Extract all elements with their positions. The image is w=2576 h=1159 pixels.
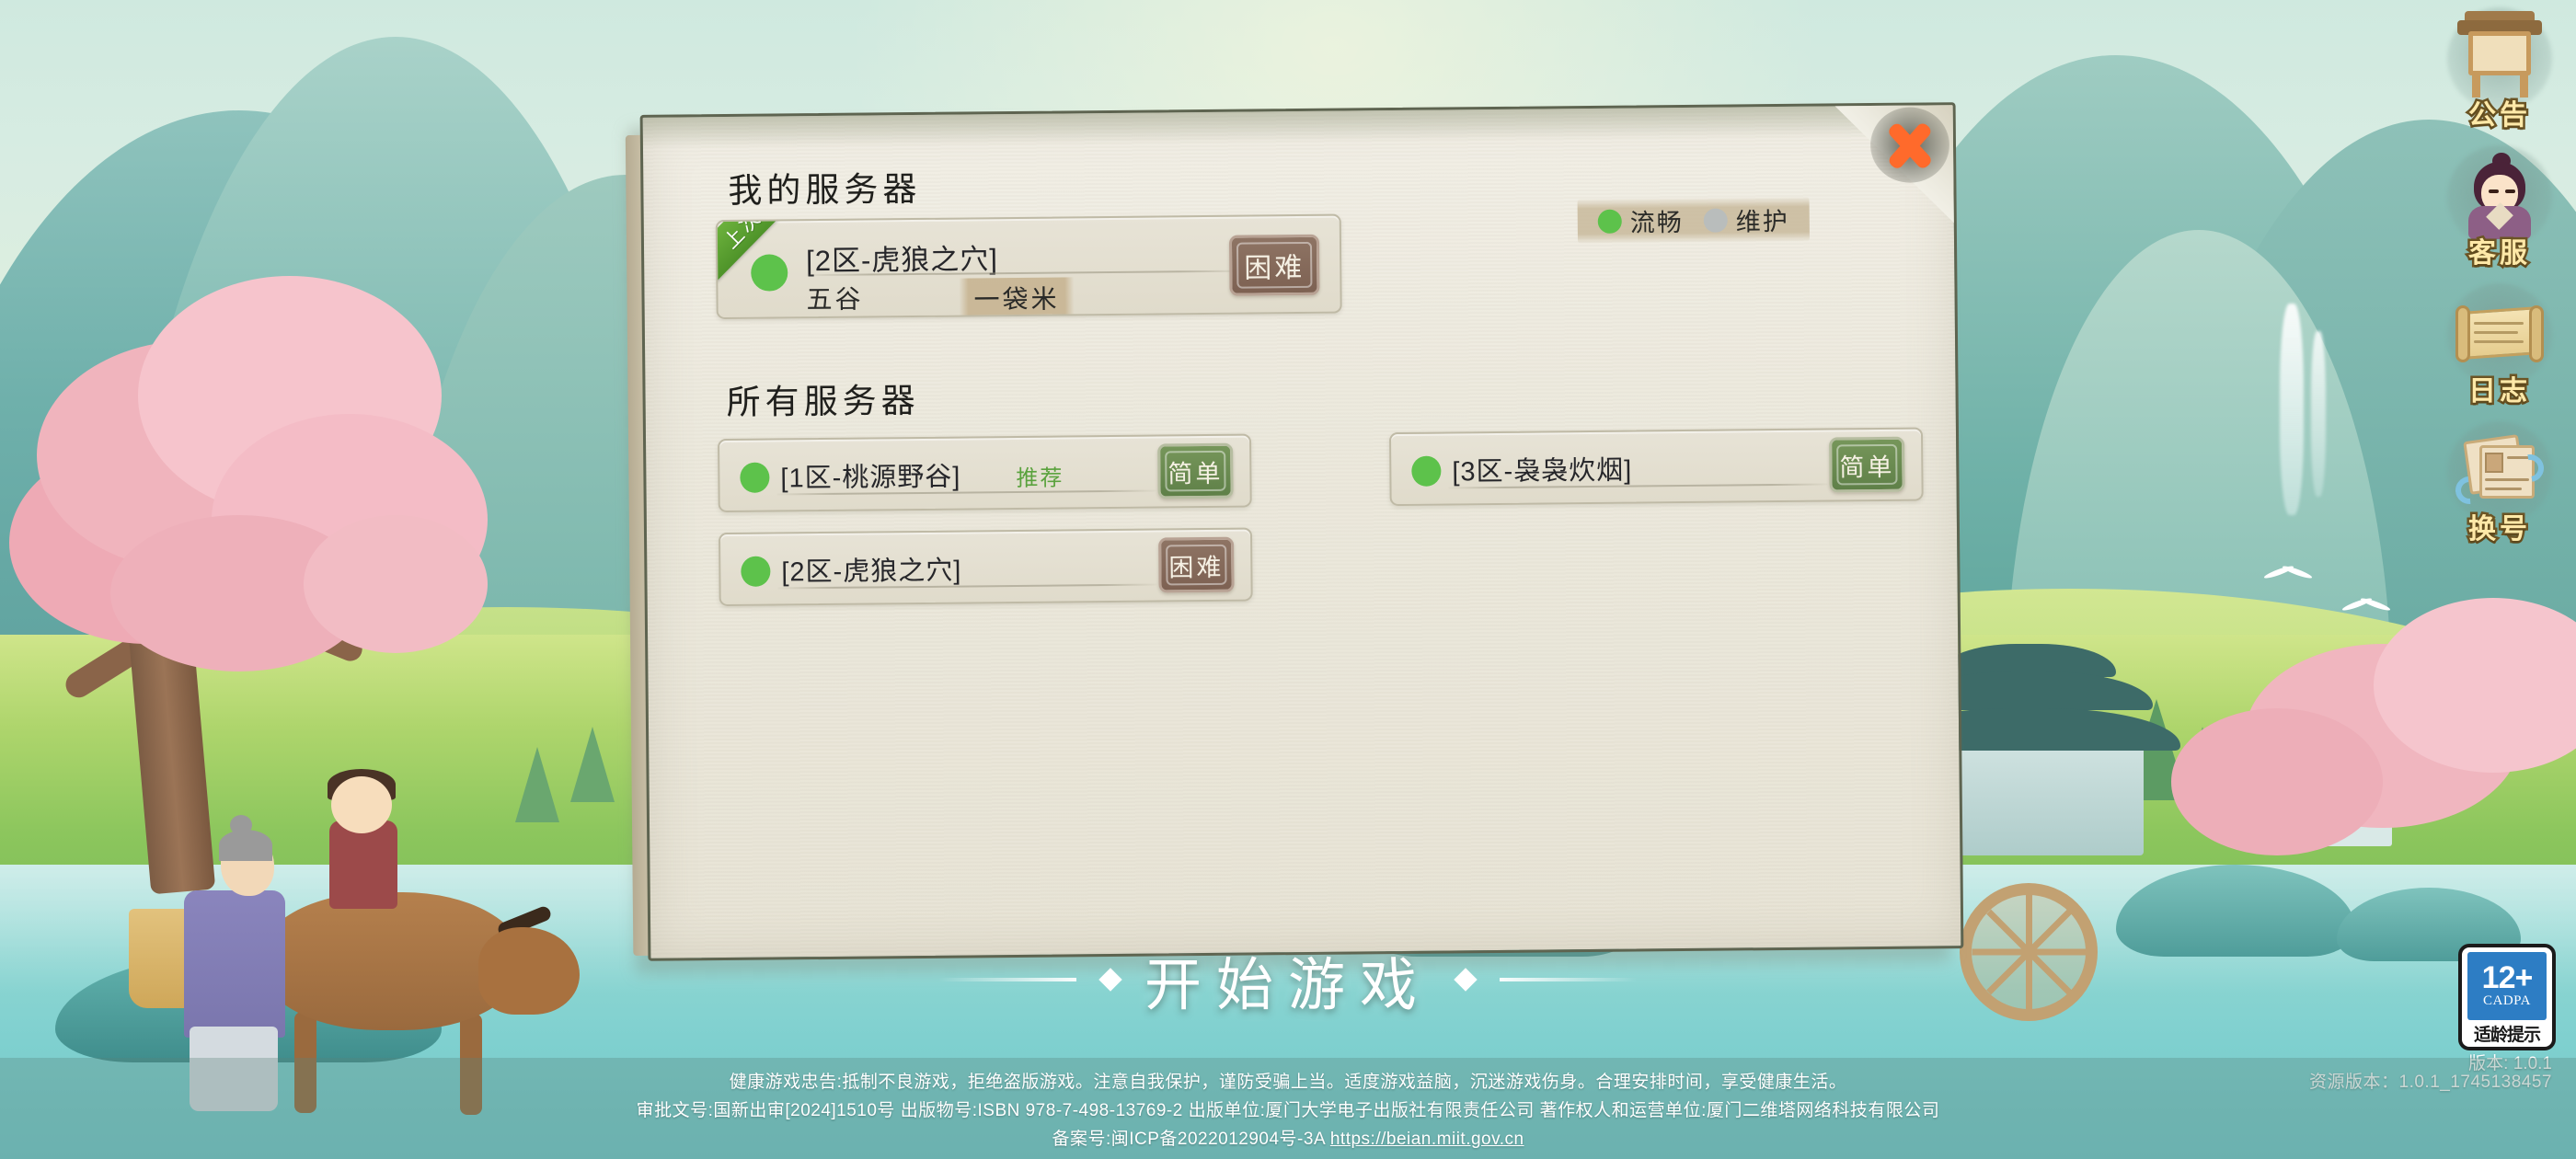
difficulty-button-easy[interactable]: 简单 — [1157, 443, 1234, 499]
panel-body: 流畅 维护 我的服务器 上次 [2区-虎狼之穴] 五谷 一袋米 困难 所有服务器… — [640, 102, 1964, 961]
server-card[interactable]: [1区-桃源野谷] 推荐 简单 — [718, 434, 1252, 513]
start-game-button[interactable]: 开始游戏 — [938, 938, 1638, 1021]
legend-maintenance-label: 维护 — [1736, 201, 1789, 238]
server-card[interactable]: [2区-虎狼之穴] 困难 — [719, 528, 1253, 607]
server-status-dot-icon — [751, 254, 788, 291]
recommend-badge: 推荐 — [1016, 459, 1064, 491]
age-rating-number: 12+ — [2482, 963, 2533, 993]
beian-link[interactable]: https://beian.miit.gov.cn — [1330, 1130, 1524, 1149]
age-rating-caption: 适龄提示 — [2474, 1021, 2540, 1046]
decor-diamond-right-icon — [1454, 968, 1477, 991]
cherry-blossom — [304, 515, 488, 653]
difficulty-button-easy[interactable]: 简单 — [1829, 437, 1905, 493]
server-name: [2区-虎狼之穴] — [781, 549, 961, 590]
footer-icp-line: 备案号:闽ICP备2022012904号-3A https://beian.mi… — [1052, 1125, 1524, 1150]
old-man-hair — [219, 830, 272, 861]
sidebar-item-log[interactable]: 日志 — [2440, 283, 2559, 421]
child-head — [331, 776, 392, 833]
role-title-badge: 一袋米 — [959, 277, 1074, 318]
close-x-icon — [1880, 115, 1940, 175]
status-legend: 流畅 维护 — [1578, 197, 1810, 244]
status-dot-maintenance-icon — [1704, 208, 1728, 232]
close-button[interactable] — [1857, 93, 1961, 197]
start-game-label: 开始游戏 — [1144, 938, 1432, 1021]
age-rating-badge: 12+ CADPA 适龄提示 — [2458, 944, 2556, 1050]
sidebar-label-customer-service: 客服 — [2468, 230, 2531, 270]
my-server-card[interactable]: 上次 [2区-虎狼之穴] 五谷 一袋米 困难 — [716, 214, 1342, 320]
server-status-dot-icon — [741, 557, 770, 587]
server-card[interactable]: [3区-袅袅炊烟] 简单 — [1389, 428, 1924, 507]
server-name: [1区-桃源野谷] — [780, 455, 960, 496]
server-select-panel: 流畅 维护 我的服务器 上次 [2区-虎狼之穴] 五谷 一袋米 困难 所有服务器… — [640, 102, 1964, 961]
role-name: 五谷 — [806, 280, 863, 317]
sidebar-label-switch-account: 换号 — [2468, 506, 2531, 546]
decor-line-right — [1500, 978, 1638, 981]
server-status-dot-icon — [740, 463, 769, 493]
ox-head — [478, 927, 580, 1015]
switch-account-icon — [2452, 425, 2547, 513]
child-body — [329, 820, 397, 909]
section-title-my-servers: 我的服务器 — [717, 159, 940, 216]
difficulty-button-hard[interactable]: 困难 — [1158, 537, 1235, 593]
footer-license-info: 审批文号:国新出审[2024]1510号 出版物号:ISBN 978-7-498… — [637, 1096, 1940, 1121]
age-rating-box: 12+ CADPA — [2467, 952, 2547, 1020]
difficulty-button-hard[interactable]: 困难 — [1229, 235, 1320, 296]
legend-online-label: 流畅 — [1630, 202, 1684, 239]
customer-service-icon — [2452, 149, 2547, 237]
sidebar-item-customer-service[interactable]: 客服 — [2440, 145, 2559, 283]
legend-online: 流畅 — [1598, 202, 1684, 239]
sidebar-label-log: 日志 — [2468, 368, 2531, 408]
age-rating-org: CADPA — [2483, 993, 2531, 1009]
section-title-all-servers: 所有服务器 — [715, 371, 938, 428]
footer-icp-prefix: 备案号:闽ICP备2022012904号-3A — [1052, 1130, 1329, 1149]
footer-health-notice: 健康游戏忠告:抵制不良游戏，拒绝盗版游戏。注意自我保护，谨防受骗上当。适度游戏益… — [730, 1068, 1847, 1093]
status-dot-online-icon — [1598, 209, 1622, 233]
decor-diamond-left-icon — [1098, 968, 1121, 991]
sidebar-label-announcement: 公告 — [2468, 92, 2531, 132]
sidebar-item-switch-account[interactable]: 换号 — [2440, 421, 2559, 559]
crane-bird — [2341, 593, 2393, 614]
legal-footer: 健康游戏忠告:抵制不良游戏，拒绝盗版游戏。注意自我保护，谨防受骗上当。适度游戏益… — [0, 1058, 2576, 1159]
server-name: [3区-袅袅炊烟] — [1452, 449, 1632, 489]
cherry-blossom — [2171, 708, 2383, 855]
announcement-board-icon — [2452, 11, 2547, 99]
crane-bird — [2263, 561, 2315, 581]
old-man-body — [184, 890, 285, 1038]
waterfall — [2280, 304, 2304, 515]
waterfall — [2311, 331, 2326, 497]
server-status-dot-icon — [1411, 456, 1441, 487]
last-played-label: 上次 — [717, 214, 767, 255]
decor-line-left — [938, 978, 1076, 981]
sidebar-item-announcement[interactable]: 公告 — [2440, 7, 2559, 145]
water-wheel — [1960, 883, 2098, 1021]
scroll-log-icon — [2452, 287, 2547, 375]
right-sidebar: 公告 客服 日志 — [2440, 7, 2559, 559]
legend-maintenance: 维护 — [1704, 201, 1789, 238]
